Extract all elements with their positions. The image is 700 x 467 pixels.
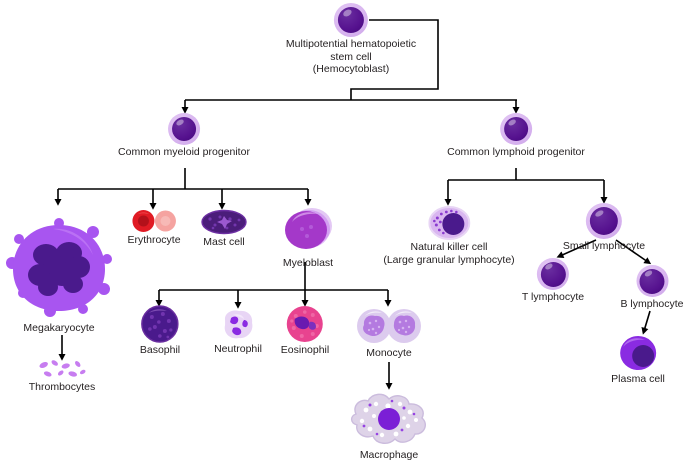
cell-monocyte	[357, 306, 421, 346]
edge-b-lymphocyte-to-plasma-cell	[644, 311, 650, 331]
label-megakaryocyte: Megakaryocyte	[3, 322, 115, 335]
label-common-myeloid-progenitor: Common myeloid progenitor	[118, 146, 250, 159]
cell-macrophage	[344, 390, 434, 448]
cell-small-lymphocyte	[586, 203, 622, 239]
node-common-myeloid-progenitor[interactable]: Common myeloid progenitor	[118, 113, 250, 159]
label-natural-killer-cell: Natural killer cell (Large granular lymp…	[383, 241, 514, 266]
label-stem-cell: Multipotential hematopoietic stem cell (…	[286, 38, 416, 76]
cell-eosinophil	[286, 305, 324, 343]
label-b-lymphocyte: B lymphocyte	[620, 298, 683, 311]
cell-natural-killer-cell	[428, 206, 470, 240]
node-eosinophil[interactable]: Eosinophil	[281, 305, 329, 357]
node-macrophage[interactable]: Macrophage	[344, 390, 434, 462]
label-monocyte: Monocyte	[357, 347, 421, 360]
label-erythrocyte: Erythrocyte	[127, 234, 180, 247]
node-myeloblast[interactable]: Myeloblast	[280, 204, 336, 270]
label-eosinophil: Eosinophil	[281, 344, 329, 357]
node-common-lymphoid-progenitor[interactable]: Common lymphoid progenitor	[447, 113, 585, 159]
node-neutrophil[interactable]: Neutrophil	[214, 308, 262, 356]
label-myeloblast: Myeloblast	[280, 257, 336, 270]
label-basophil: Basophil	[140, 344, 180, 357]
label-small-lymphocyte: Small lymphocyte	[563, 240, 645, 253]
node-small-lymphocyte[interactable]: Small lymphocyte	[563, 203, 645, 253]
cell-neutrophil	[220, 308, 256, 342]
node-basophil[interactable]: Basophil	[140, 305, 180, 357]
cell-t-lymphocyte	[537, 258, 569, 290]
node-t-lymphocyte[interactable]: T lymphocyte	[522, 258, 584, 304]
cell-b-lymphocyte	[636, 265, 668, 297]
label-mast-cell: Mast cell	[200, 236, 248, 249]
cell-common-myeloid-progenitor	[168, 113, 200, 145]
cell-plasma-cell	[617, 334, 659, 372]
cell-basophil	[141, 305, 179, 343]
node-stem-cell[interactable]: Multipotential hematopoietic stem cell (…	[286, 3, 416, 76]
cell-megakaryocyte	[3, 203, 115, 321]
node-b-lymphocyte[interactable]: B lymphocyte	[620, 265, 683, 311]
label-plasma-cell: Plasma cell	[611, 373, 665, 386]
cell-thrombocytes	[36, 358, 88, 380]
label-thrombocytes: Thrombocytes	[29, 381, 96, 394]
node-megakaryocyte[interactable]: Megakaryocyte	[3, 203, 115, 335]
cell-myeloblast	[280, 204, 336, 256]
node-monocyte[interactable]: Monocyte	[357, 306, 421, 360]
label-t-lymphocyte: T lymphocyte	[522, 291, 584, 304]
cell-erythrocyte	[131, 209, 177, 233]
cell-common-lymphoid-progenitor	[500, 113, 532, 145]
label-common-lymphoid-progenitor: Common lymphoid progenitor	[447, 146, 585, 159]
cell-stem-cell	[334, 3, 368, 37]
node-natural-killer-cell[interactable]: Natural killer cell (Large granular lymp…	[383, 206, 514, 266]
node-thrombocytes[interactable]: Thrombocytes	[29, 358, 96, 394]
cell-mast-cell	[200, 209, 248, 235]
node-mast-cell[interactable]: Mast cell	[200, 209, 248, 249]
hematopoiesis-diagram: Multipotential hematopoietic stem cell (…	[0, 0, 700, 467]
label-macrophage: Macrophage	[344, 449, 434, 462]
node-erythrocyte[interactable]: Erythrocyte	[127, 209, 180, 247]
node-plasma-cell[interactable]: Plasma cell	[611, 334, 665, 386]
label-neutrophil: Neutrophil	[214, 343, 262, 356]
